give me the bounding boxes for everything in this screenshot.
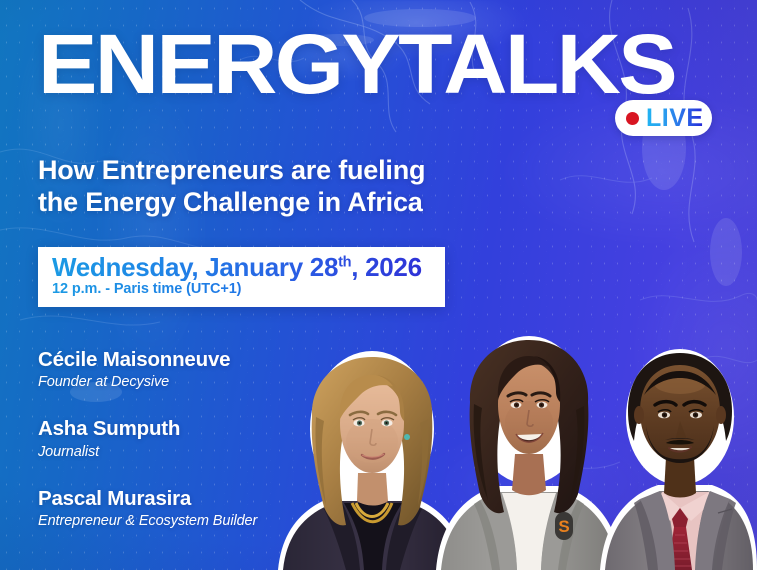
speaker-list: Cécile Maisonneuve Founder at Decysive A… <box>38 348 368 530</box>
speaker-item: Asha Sumputh Journalist <box>38 417 368 460</box>
event-subtitle-line-2: the Energy Challenge in Africa <box>38 187 425 219</box>
event-date-badge: Wednesday, January 28th, 2026 12 p.m. - … <box>38 247 445 307</box>
event-time: 12 p.m. - Paris time (UTC+1) <box>52 282 431 298</box>
event-date: Wednesday, January 28th, 2026 <box>52 253 431 281</box>
speaker-role: Founder at Decysive <box>38 373 368 391</box>
speaker-item: Cécile Maisonneuve Founder at Decysive <box>38 348 368 391</box>
speaker-name: Asha Sumputh <box>38 417 368 441</box>
live-badge-label: LIVE <box>646 106 704 131</box>
event-date-ordinal: th <box>338 254 351 270</box>
live-badge: LIVE <box>615 100 712 136</box>
page-title-text: ENERGYTALKS <box>38 28 675 100</box>
event-subtitle-line-1: How Entrepreneurs are fueling <box>38 155 425 187</box>
event-date-suffix: , 2026 <box>351 252 422 282</box>
speaker-name: Cécile Maisonneuve <box>38 348 368 372</box>
webinar-promo-poster: ENERGYTALKS LIVE How Entrepreneurs are f… <box>0 0 757 570</box>
record-dot-icon <box>626 112 639 125</box>
photo-speaker-2: S <box>434 330 624 570</box>
event-subtitle: How Entrepreneurs are fueling the Energy… <box>38 155 425 218</box>
page-title: ENERGYTALKS <box>38 28 639 100</box>
svg-text:S: S <box>558 517 569 536</box>
speaker-name: Pascal Murasira <box>38 487 368 511</box>
event-date-prefix: Wednesday, January 28 <box>52 252 338 282</box>
photo-speaker-3 <box>600 345 757 570</box>
speaker-item: Pascal Murasira Entrepreneur & Ecosystem… <box>38 487 368 530</box>
speaker-role: Entrepreneur & Ecosystem Builder <box>38 512 368 530</box>
speaker-role: Journalist <box>38 443 368 461</box>
